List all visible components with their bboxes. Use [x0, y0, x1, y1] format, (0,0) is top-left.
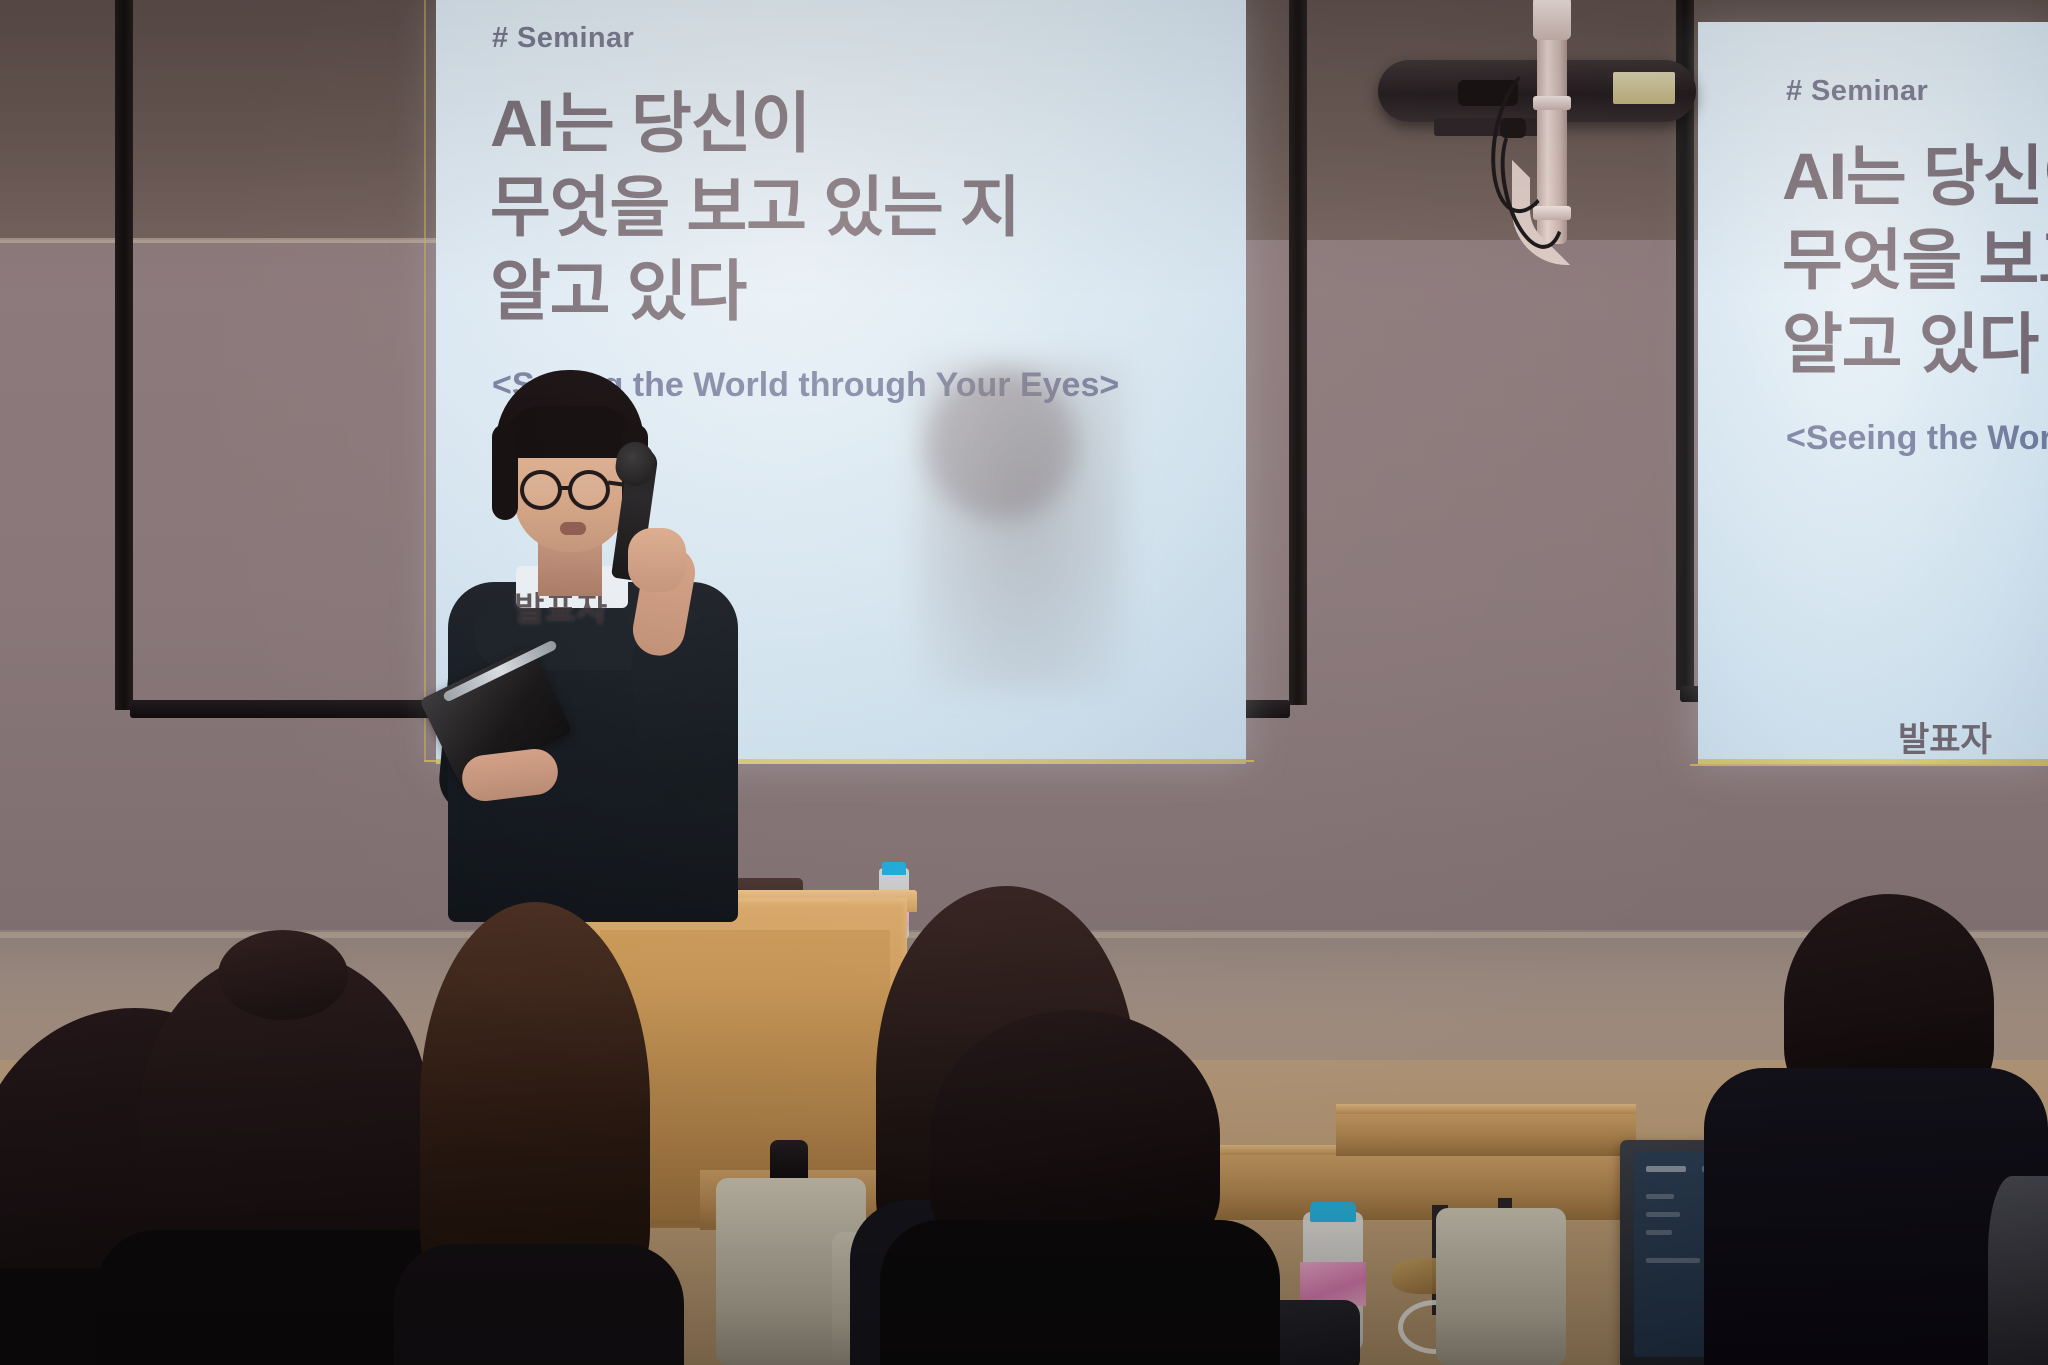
slide-headline-line3: 알고 있다 — [490, 238, 746, 334]
hair — [1988, 1176, 2048, 1365]
glasses-lens-left-icon — [520, 470, 562, 510]
desk-row-far-right — [1336, 1110, 1636, 1156]
presenter-right-hand — [628, 528, 686, 592]
slide-right: # Seminar AI는 당신이 무엇을 보고 있는 지 알고 있다 <See… — [1698, 22, 2048, 764]
frame-post-left — [115, 0, 133, 710]
torso — [880, 1220, 1280, 1365]
screen-line — [1646, 1230, 1672, 1235]
slide-presenter-tag-right: 발표자 — [1898, 712, 1992, 761]
presenter-hair-side-left — [492, 424, 518, 520]
projection-screen-right: # Seminar AI는 당신이 무엇을 보고 있는 지 알고 있다 <See… — [1698, 22, 2048, 764]
slide-headline-line2: 무엇을 보고 있는 지 — [490, 154, 1020, 250]
projector-label-sticker — [1613, 72, 1675, 104]
accent-line-horizontal-right — [1690, 764, 2048, 766]
torso — [394, 1244, 684, 1365]
conduit-pipe-cap — [1533, 0, 1571, 40]
slide-accent-rule-right — [1698, 759, 2048, 764]
screen-line — [1646, 1258, 1700, 1263]
glasses-bridge-icon — [561, 486, 571, 490]
accent-line-vertical-left — [424, 0, 426, 760]
screen-line — [1646, 1212, 1680, 1217]
screen-line — [1646, 1166, 1686, 1172]
slide-headline-line2-right: 무엇을 보고 있는 지 — [1782, 207, 2048, 303]
hair — [420, 902, 650, 1302]
presenter: 발표자 — [440, 370, 840, 930]
podium-bottle-cap — [882, 862, 906, 875]
chair-right — [1436, 1208, 1566, 1365]
audience-bottle-cap — [1310, 1202, 1356, 1222]
seminar-photo-scene: # Seminar AI는 당신이 무엇을 보고 있는 지 알고 있다 <See… — [0, 0, 2048, 1365]
slide-headline-line3-right: 알고 있다 — [1782, 291, 2038, 387]
frame-post-center — [1289, 0, 1307, 705]
desk-device — [770, 1140, 808, 1182]
wall-trim-upper — [0, 238, 440, 243]
slide-kicker-right: # Seminar — [1786, 75, 1928, 108]
slide-subtitle-right: <Seeing the World through Your Eyes> — [1786, 419, 2048, 458]
presenter-hair-fringe — [502, 406, 638, 458]
desk-edge-far-right — [1336, 1104, 1636, 1114]
glasses-lens-right-icon — [568, 470, 610, 510]
presenter-body-shadow — [916, 362, 1126, 692]
slide-headline-line1: AI는 당신이 — [490, 70, 810, 166]
screen-line — [1646, 1194, 1674, 1199]
cable-clip — [1500, 118, 1526, 138]
slide-headline-line1-right: AI는 당신이 — [1782, 123, 2048, 219]
slide-kicker: # Seminar — [492, 22, 634, 55]
hair-bun — [218, 930, 348, 1020]
presenter-mouth — [560, 522, 586, 535]
